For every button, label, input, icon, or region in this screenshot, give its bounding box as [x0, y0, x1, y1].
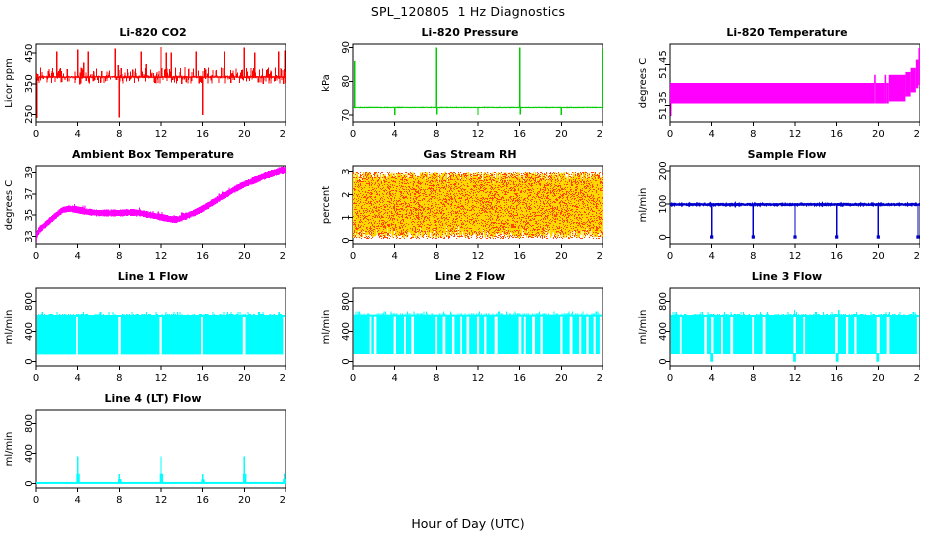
svg-text:4: 4 [708, 129, 714, 140]
svg-text:degrees C: degrees C [4, 180, 15, 230]
svg-text:33: 33 [24, 230, 35, 243]
svg-text:20: 20 [238, 129, 251, 140]
svg-text:12: 12 [472, 251, 485, 262]
svg-text:0: 0 [341, 237, 352, 243]
diagnostics-figure: SPL_120805 1 Hz Diagnostics Hour of Day … [0, 0, 936, 540]
panel-line-2-flow: Line 2 Flow048121620240400800ml/min [315, 270, 603, 394]
series-sample-flow [670, 204, 920, 239]
svg-text:0: 0 [33, 251, 39, 262]
svg-text:0: 0 [350, 251, 356, 262]
panel-title-line-2-flow: Line 2 Flow [337, 270, 603, 283]
svg-text:20: 20 [872, 129, 885, 140]
series-li820-co2 [36, 47, 286, 118]
svg-text:16: 16 [196, 251, 209, 262]
svg-text:4: 4 [74, 129, 80, 140]
plot-li820-pressure: 04812162024708090kPa [315, 26, 603, 150]
svg-text:4: 4 [391, 129, 397, 140]
panel-title-line-3-flow: Line 3 Flow [654, 270, 920, 283]
svg-text:16: 16 [513, 251, 526, 262]
svg-text:Licor ppm: Licor ppm [4, 58, 15, 108]
svg-text:8: 8 [433, 251, 439, 262]
svg-text:70: 70 [341, 109, 352, 122]
svg-text:20: 20 [555, 129, 568, 140]
svg-text:degrees C: degrees C [638, 58, 649, 108]
svg-text:24: 24 [280, 251, 286, 262]
svg-text:8: 8 [750, 129, 756, 140]
series-li820-temperature [670, 48, 920, 116]
plot-line-2-flow: 048121620240400800ml/min [315, 270, 603, 394]
svg-text:3: 3 [341, 169, 352, 175]
panel-title-li820-co2: Li-820 CO2 [20, 26, 286, 39]
svg-text:0: 0 [667, 129, 673, 140]
svg-text:37: 37 [24, 187, 35, 200]
panel-li820-temperature: Li-820 Temperature0481216202451.3551.45d… [632, 26, 920, 150]
svg-text:35: 35 [24, 209, 35, 222]
svg-text:12: 12 [789, 129, 802, 140]
svg-text:51.35: 51.35 [658, 91, 669, 120]
panel-title-ambient-box-temperature: Ambient Box Temperature [20, 148, 286, 161]
svg-text:16: 16 [513, 129, 526, 140]
series-line-3-flow [671, 310, 919, 362]
svg-text:20: 20 [555, 251, 568, 262]
svg-text:12: 12 [472, 129, 485, 140]
plot-line-4-lt-flow: 048121620240400800ml/min [0, 392, 286, 516]
plot-line-1-flow: 048121620240400800ml/min [0, 270, 286, 394]
svg-text:16: 16 [830, 129, 843, 140]
svg-text:350: 350 [24, 74, 35, 93]
svg-text:24: 24 [597, 129, 603, 140]
svg-text:80: 80 [341, 75, 352, 88]
figure-xaxis-label: Hour of Day (UTC) [0, 516, 936, 531]
svg-text:16: 16 [196, 129, 209, 140]
svg-text:24: 24 [280, 129, 286, 140]
plot-li820-temperature: 0481216202451.3551.45degrees C [632, 26, 920, 150]
plot-li820-co2: 04812162024250350450Licor ppm [0, 26, 286, 150]
panel-sample-flow: Sample Flow048121620240100200ml/min [632, 148, 920, 272]
svg-text:24: 24 [914, 129, 920, 140]
svg-text:0: 0 [33, 129, 39, 140]
svg-text:51.45: 51.45 [658, 50, 669, 79]
plot-line-3-flow: 048121620240400800ml/min [632, 270, 920, 394]
svg-text:20: 20 [238, 251, 251, 262]
svg-text:percent: percent [321, 186, 332, 224]
plot-gas-stream-rh: 048121620240123percent [315, 148, 603, 272]
svg-text:90: 90 [341, 41, 352, 54]
svg-text:12: 12 [155, 251, 168, 262]
svg-text:4: 4 [74, 251, 80, 262]
panel-line-1-flow: Line 1 Flow048121620240400800ml/min [0, 270, 286, 394]
svg-text:0: 0 [350, 129, 356, 140]
svg-text:8: 8 [433, 129, 439, 140]
plot-ambient-box-temperature: 0481216202433353739degrees C [0, 148, 286, 272]
svg-text:kPa: kPa [321, 74, 332, 92]
panel-title-li820-temperature: Li-820 Temperature [654, 26, 920, 39]
series-line-2-flow [354, 312, 603, 354]
plot-sample-flow: 048121620240100200ml/min [632, 148, 920, 272]
panel-title-sample-flow: Sample Flow [654, 148, 920, 161]
panel-li820-pressure: Li-820 Pressure04812162024708090kPa [315, 26, 603, 150]
svg-text:8: 8 [116, 129, 122, 140]
panel-title-line-4-lt-flow: Line 4 (LT) Flow [20, 392, 286, 405]
series-li820-pressure [353, 47, 603, 115]
panel-title-line-1-flow: Line 1 Flow [20, 270, 286, 283]
svg-text:8: 8 [116, 251, 122, 262]
panel-gas-stream-rh: Gas Stream RH048121620240123percent [315, 148, 603, 272]
series-line-1-flow [37, 312, 285, 354]
panel-title-gas-stream-rh: Gas Stream RH [337, 148, 603, 161]
svg-text:2: 2 [341, 191, 352, 197]
svg-text:12: 12 [155, 129, 168, 140]
series-gas-stream-rh [353, 172, 603, 239]
panel-line-3-flow: Line 3 Flow048121620240400800ml/min [632, 270, 920, 394]
panel-li820-co2: Li-820 CO204812162024250350450Licor ppm [0, 26, 286, 150]
svg-text:250: 250 [24, 105, 35, 124]
panel-line-4-lt-flow: Line 4 (LT) Flow048121620240400800ml/min [0, 392, 286, 516]
svg-text:450: 450 [24, 44, 35, 63]
svg-text:39: 39 [24, 166, 35, 179]
svg-text:1: 1 [341, 214, 352, 220]
panel-ambient-box-temperature: Ambient Box Temperature04812162024333537… [0, 148, 286, 272]
svg-text:4: 4 [391, 251, 397, 262]
series-line-4-lt-flow [36, 457, 286, 484]
svg-text:24: 24 [597, 251, 603, 262]
figure-title: SPL_120805 1 Hz Diagnostics [0, 4, 936, 19]
panel-title-li820-pressure: Li-820 Pressure [337, 26, 603, 39]
series-ambient-box-temperature [36, 167, 286, 242]
